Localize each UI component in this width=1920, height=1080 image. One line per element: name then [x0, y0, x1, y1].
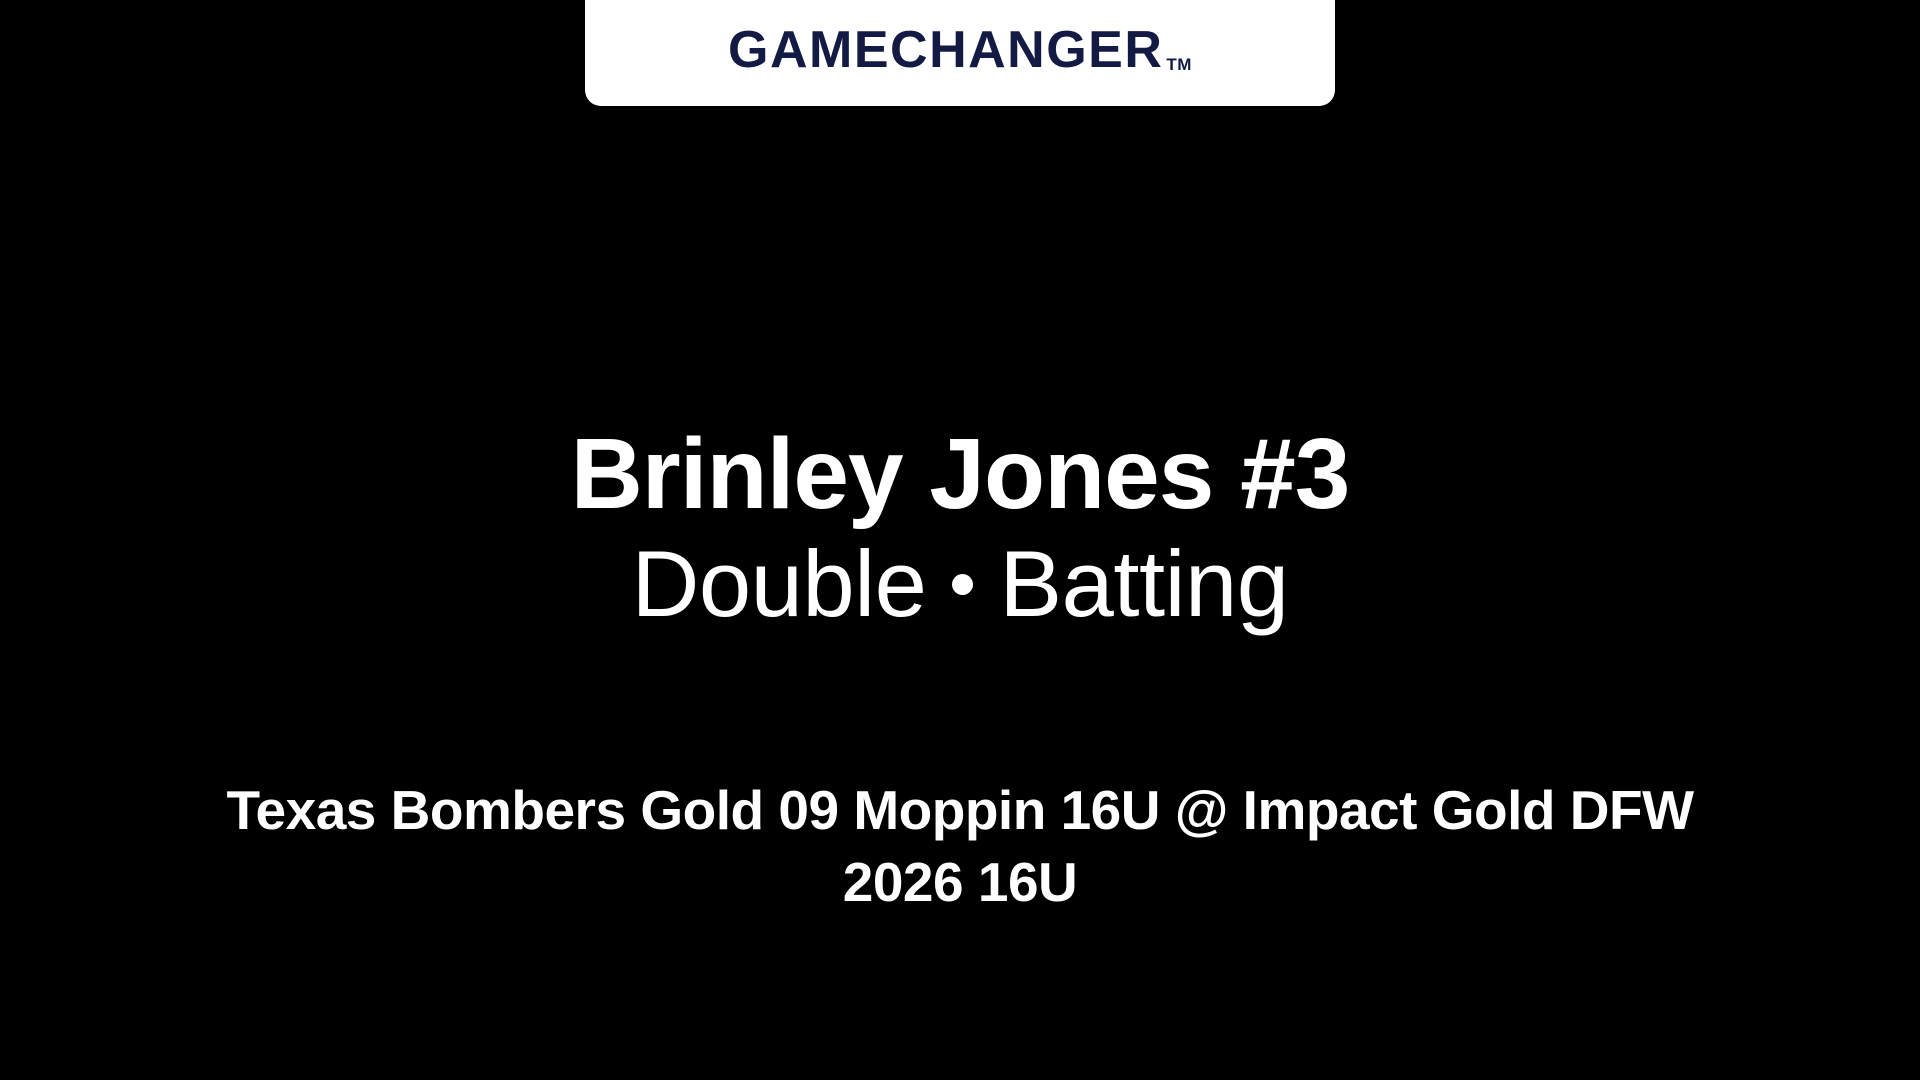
play-summary: Double Batting: [0, 530, 1920, 638]
trademark-symbol: TM: [1166, 56, 1192, 73]
video-highlight-card: GAMECHANGER TM Brinley Jones #3 Double B…: [0, 0, 1920, 1080]
game-division-line: 2026 16U: [130, 847, 1790, 919]
game-info-block: Texas Bombers Gold 09 Moppin 16U @ Impac…: [130, 775, 1790, 918]
gamechanger-wordmark: GAMECHANGER TM: [728, 24, 1192, 76]
play-type-label: Double: [631, 530, 926, 638]
headline-block: Brinley Jones #3 Double Batting: [0, 418, 1920, 638]
player-name: Brinley Jones #3: [0, 418, 1920, 530]
game-matchup-line: Texas Bombers Gold 09 Moppin 16U @ Impac…: [130, 775, 1790, 847]
play-context-label: Batting: [999, 530, 1288, 638]
gamechanger-logo-badge: GAMECHANGER TM: [585, 0, 1335, 106]
gamechanger-wordmark-text: GAMECHANGER: [728, 24, 1163, 76]
bullet-separator-icon: [952, 574, 973, 595]
